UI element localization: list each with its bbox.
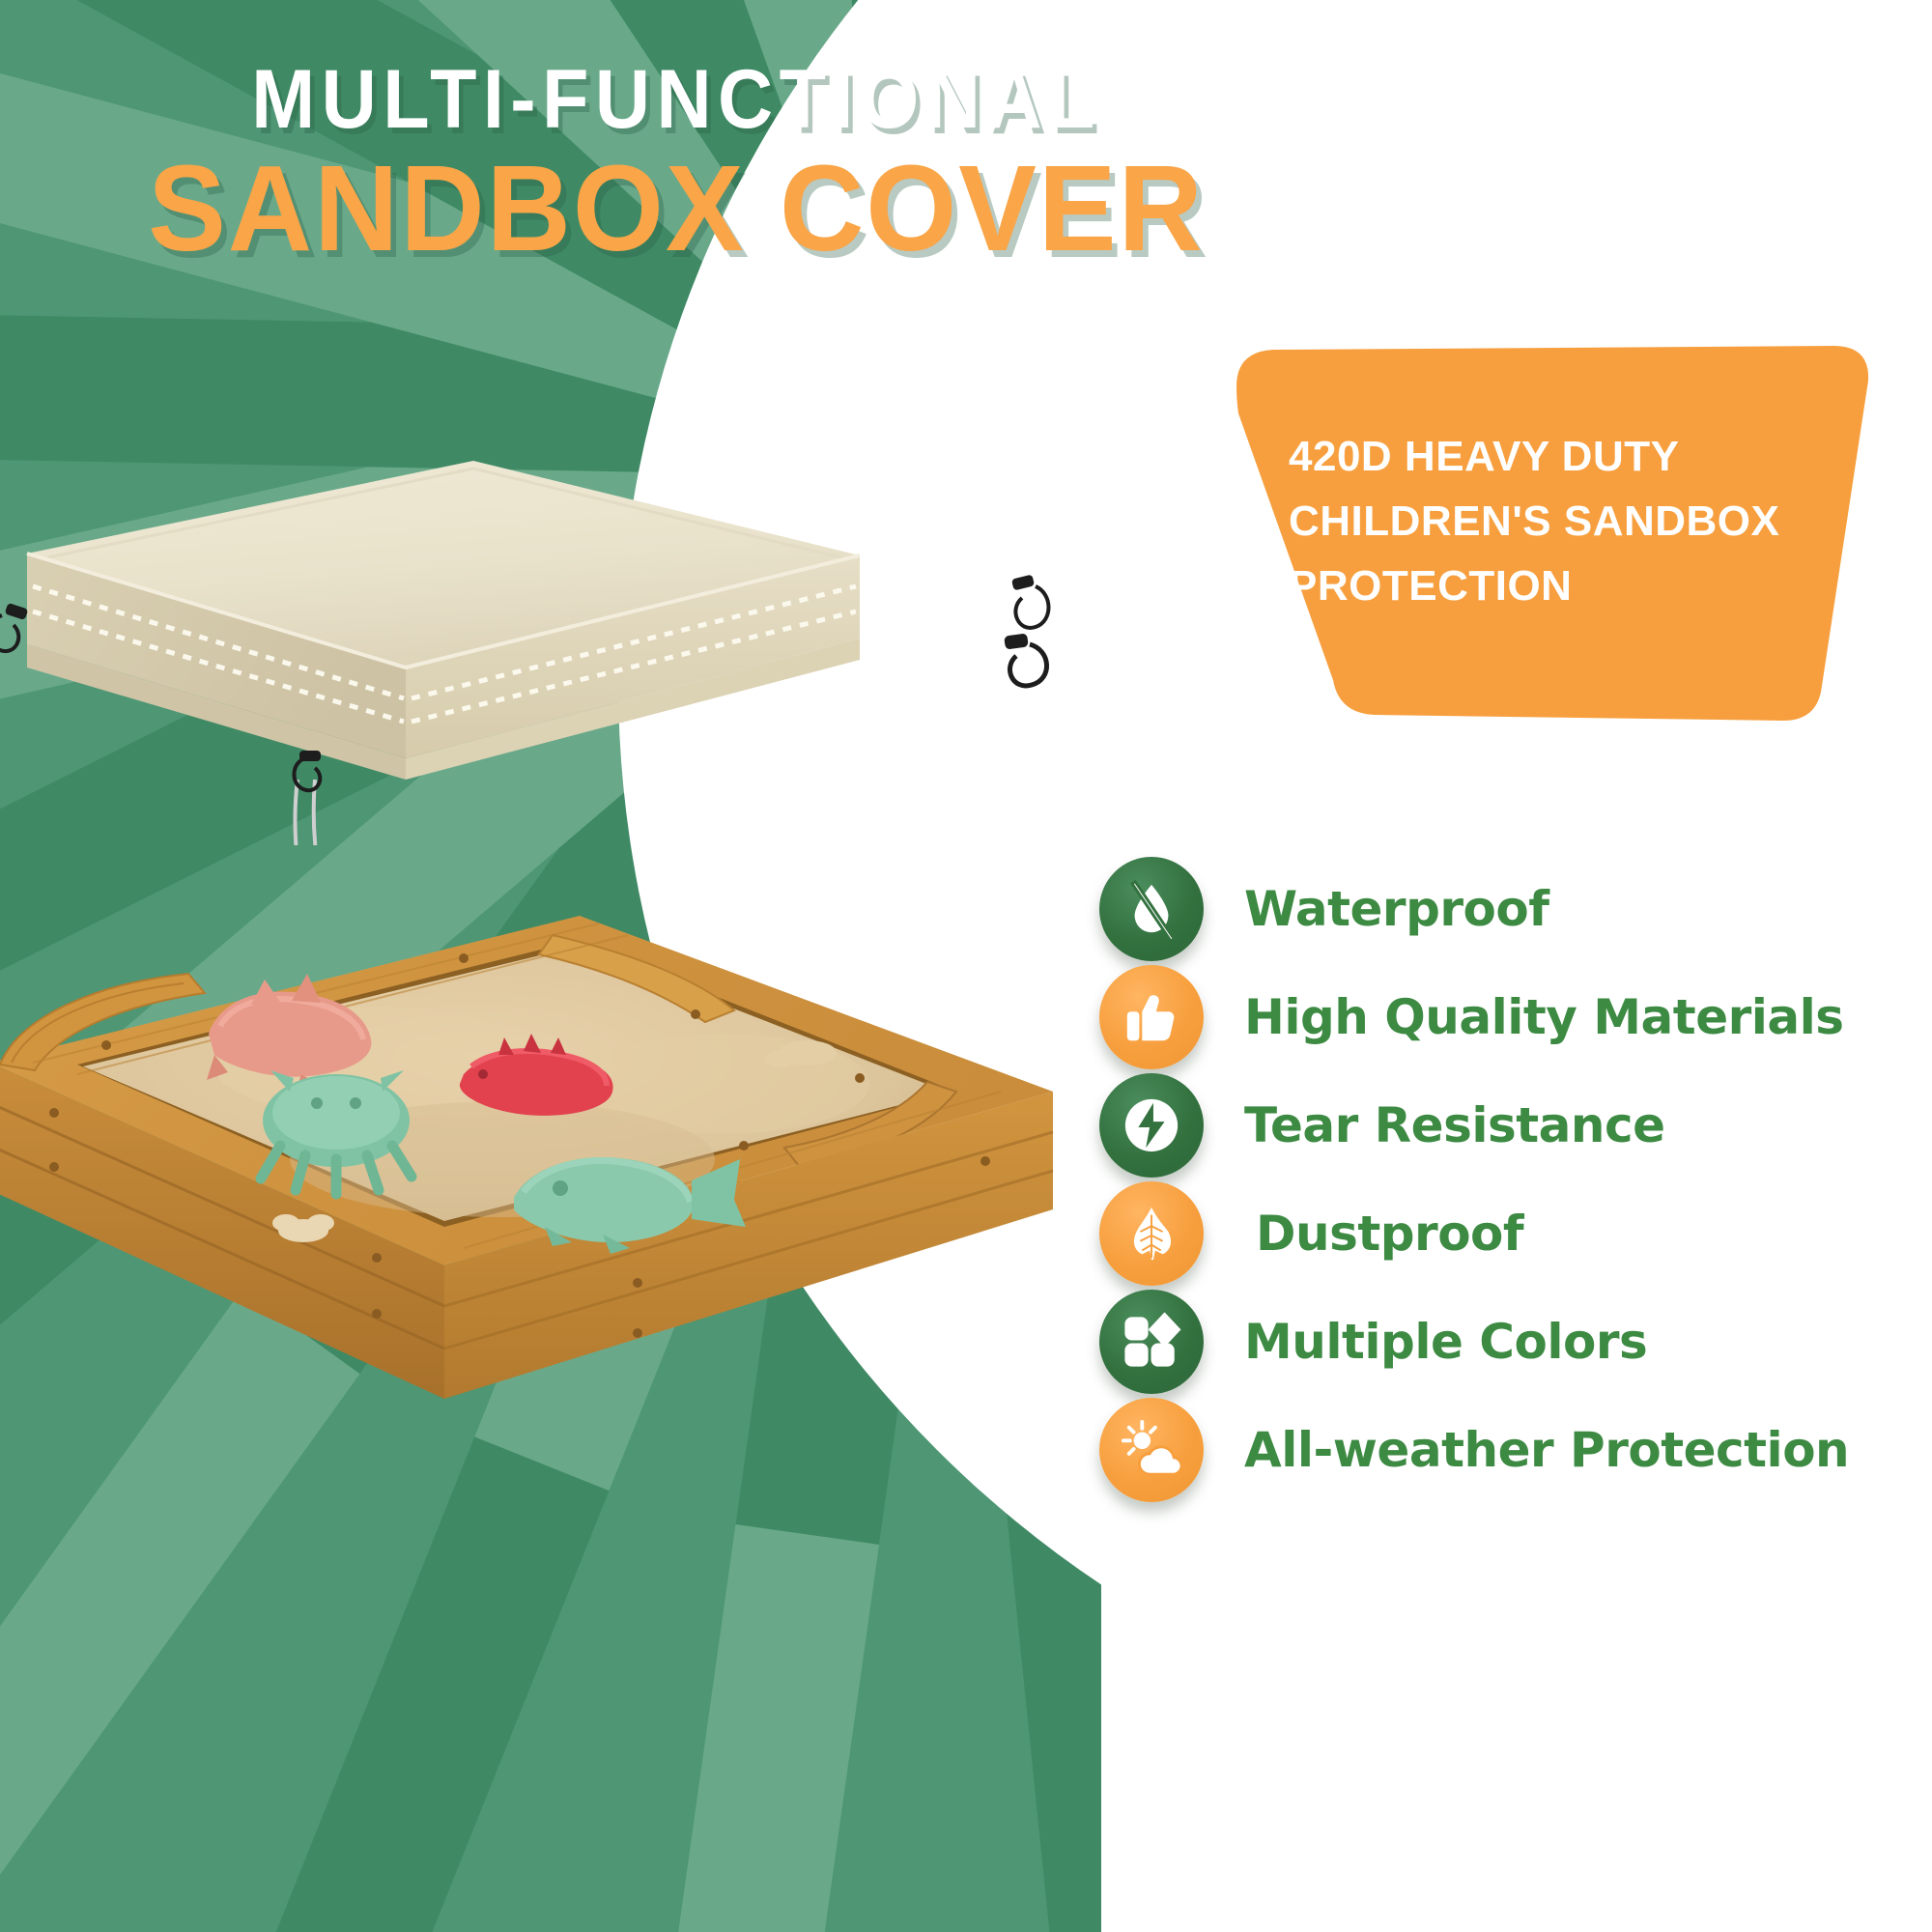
feature-item: All-weather Protection (1099, 1396, 1849, 1504)
shapes-icon (1099, 1290, 1204, 1394)
wooden-sandbox-product-photo (0, 773, 1101, 1507)
feature-label: All-weather Protection (1244, 1422, 1849, 1478)
waterproof-droplet-icon (1099, 857, 1204, 961)
feature-label: Tear Resistance (1244, 1097, 1665, 1153)
feature-label: Dustproof (1256, 1206, 1523, 1262)
badge-line-2: CHILDREN'S SANDBOX (1289, 490, 1830, 554)
badge-line-3: PROTECTION (1289, 554, 1830, 619)
feature-item: Dustproof (1099, 1179, 1849, 1288)
feature-item: High Quality Materials (1099, 963, 1849, 1071)
spec-badge: 420D HEAVY DUTY CHILDREN'S SANDBOX PROTE… (1204, 346, 1870, 723)
badge-line-1: 420D HEAVY DUTY (1289, 425, 1830, 490)
headline-line-1: MULTI-FUNCTIONAL (54, 58, 1298, 141)
cord-toggle-right-lower (1004, 633, 1046, 686)
sun-cloud-icon (1099, 1398, 1204, 1502)
feature-item: Multiple Colors (1099, 1288, 1849, 1396)
sandbox-cover-product-photo (0, 440, 1130, 845)
feature-label: Multiple Colors (1244, 1314, 1647, 1370)
feature-label: High Quality Materials (1244, 989, 1844, 1045)
product-infographic-poster: MULTI-FUNCTIONAL SANDBOX COVER 420D HEAV… (0, 0, 1932, 1932)
feature-item: Tear Resistance (1099, 1071, 1849, 1179)
cord-toggle-right-upper (1011, 575, 1049, 628)
thumbs-up-icon (1099, 965, 1204, 1069)
feature-item: Waterproof (1099, 855, 1849, 963)
page-title: MULTI-FUNCTIONAL SANDBOX COVER (0, 58, 1352, 271)
leaf-icon (1099, 1181, 1204, 1286)
cord-toggle-left (0, 603, 28, 651)
feature-label: Waterproof (1244, 881, 1548, 937)
lightning-bolt-icon (1099, 1073, 1204, 1178)
cord-toggle-bottom (294, 751, 321, 790)
headline-line-2: SANDBOX COVER (27, 147, 1325, 271)
feature-list: WaterproofHigh Quality MaterialsTear Res… (1099, 855, 1849, 1504)
